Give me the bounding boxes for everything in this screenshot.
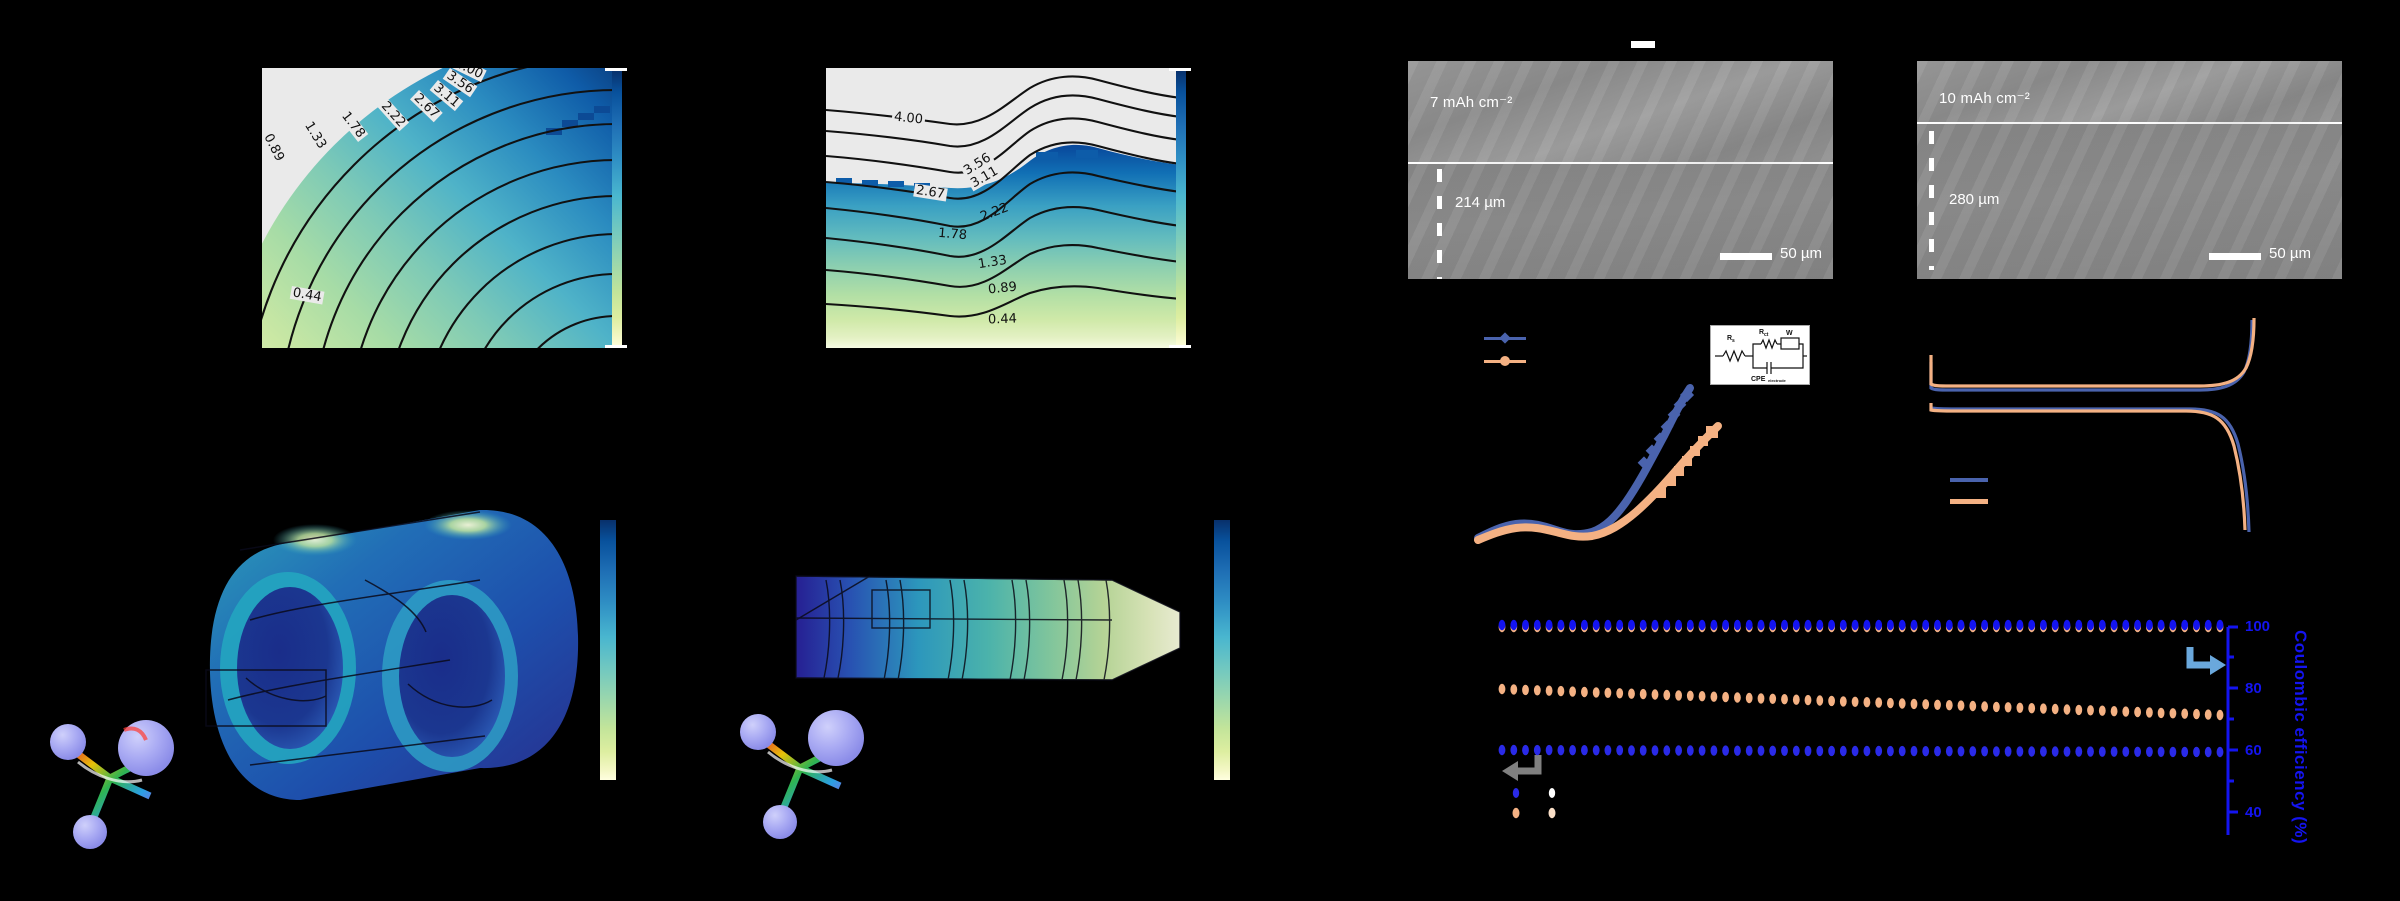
cycling-data-point <box>1816 746 1823 756</box>
colorbar-a-bottom-tick <box>605 345 627 348</box>
sem-thickness-dashes-2 <box>1929 131 1934 279</box>
cycling-data-point <box>1687 691 1694 701</box>
cycling-data-point <box>1911 699 1918 709</box>
colorbar-b-bottom-tick <box>1169 345 1191 348</box>
sem-interface-line-2 <box>1917 122 2342 124</box>
cycling-data-point <box>1875 697 1882 707</box>
cycling-data-point <box>1769 694 1776 704</box>
voltage-legend-blue <box>1950 478 1988 482</box>
sem-scale-bar-2 <box>2209 253 2261 260</box>
cycling-data-point <box>1722 692 1729 702</box>
molecule-sketch-right <box>740 690 910 850</box>
cycling-data-point <box>1652 620 1659 630</box>
cycling-data-point <box>2028 746 2035 756</box>
cycling-data-point <box>1828 620 1835 630</box>
top-marker <box>1631 41 1655 48</box>
cycling-data-point <box>1781 694 1788 704</box>
contour-label-b-3: 1.78 <box>935 227 969 243</box>
cycling-data-point <box>1816 620 1823 630</box>
cycling-right-axis-label: Coulombic efficiency (%) <box>2290 630 2310 844</box>
cycling-tick-100: 100 <box>2245 618 2270 635</box>
cycling-data-point <box>1958 620 1965 630</box>
cycling-data-point <box>1663 745 1670 755</box>
contour-plot-a: 0.89 1.33 1.78 2.22 2.67 3.11 3.56 4.00 … <box>262 68 617 348</box>
cycling-data-point <box>2017 703 2024 713</box>
cycling-data-point <box>1946 620 1953 630</box>
cycling-data-point <box>2052 704 2059 714</box>
cycling-data-point <box>1769 620 1776 630</box>
colorbar-a-top-tick <box>605 68 627 71</box>
cycling-data-point <box>1722 620 1729 630</box>
cycling-data-point <box>1628 620 1635 630</box>
cycling-data-point <box>1581 620 1588 630</box>
cycling-data-point <box>1899 746 1906 756</box>
cycling-data-point <box>1758 620 1765 630</box>
cycling-data-point <box>1569 745 1576 755</box>
cycling-data-point <box>1510 684 1517 694</box>
cycling-data-point <box>2005 746 2012 756</box>
cycling-data-point <box>2099 706 2106 716</box>
svg-text:s: s <box>1732 338 1735 344</box>
cycling-data-point <box>1522 745 1529 755</box>
cycling-data-point <box>1828 746 1835 756</box>
cycling-data-point <box>2134 707 2141 717</box>
cycling-tick-60: 60 <box>2245 742 2262 759</box>
cycling-data-point <box>1734 746 1741 756</box>
cycling-data-point <box>2087 705 2094 715</box>
cycling-data-point <box>1546 620 1553 630</box>
cycling-data-point <box>1746 746 1753 756</box>
cycling-data-point <box>1510 745 1517 755</box>
cycling-data-point <box>1899 620 1906 630</box>
cycling-data-point <box>1793 620 1800 630</box>
cycling-data-point <box>2005 702 2012 712</box>
cycling-data-point <box>1887 746 1894 756</box>
cycling-data-point <box>1781 620 1788 630</box>
cycling-data-point <box>2075 705 2082 715</box>
cycling-data-point <box>1981 620 1988 630</box>
cycling-data-point <box>1581 687 1588 697</box>
render-cylindrical-cell <box>150 500 620 860</box>
cycling-data-point <box>2122 747 2129 757</box>
cycling-data-point <box>2005 620 2012 630</box>
cycling-data-point <box>1569 686 1576 696</box>
cycling-data-point <box>1652 745 1659 755</box>
cycling-data-point <box>1534 620 1541 630</box>
molecule-sketch-left <box>50 700 220 860</box>
cycling-data-point <box>1864 697 1871 707</box>
cycling-data-point <box>1840 696 1847 706</box>
cycling-data-point <box>1922 620 1929 630</box>
cycling-data-point <box>1946 700 1953 710</box>
cycling-data-point <box>1534 745 1541 755</box>
cycling-data-point <box>2217 620 2224 630</box>
cycling-data-point <box>2134 620 2141 630</box>
cycling-tick-80: 80 <box>2245 680 2262 697</box>
cycling-data-point <box>1663 690 1670 700</box>
cycling-data-point <box>1981 746 1988 756</box>
nyquist-plot <box>1460 310 1890 570</box>
cycling-data-point <box>1769 746 1776 756</box>
cycling-data-point <box>1922 746 1929 756</box>
cycling-data-point <box>1510 620 1517 630</box>
sem-image-10mah: 10 mAh cm⁻² 280 µm 50 µm <box>1917 61 2342 279</box>
cycling-data-point <box>1616 745 1623 755</box>
cycling-data-point <box>1969 746 1976 756</box>
cycling-data-point <box>2111 620 2118 630</box>
cycling-data-point <box>1687 745 1694 755</box>
cycling-data-point <box>2205 709 2212 719</box>
cycling-data-point <box>1699 745 1706 755</box>
cycling-data-point <box>1640 689 1647 699</box>
cycling-data-point <box>1663 620 1670 630</box>
cycling-data-point <box>1969 701 1976 711</box>
cycling-data-point <box>1628 689 1635 699</box>
cycling-data-point <box>2099 747 2106 757</box>
cycling-data-point <box>2217 747 2224 757</box>
eis-legend-orange-marker <box>1498 354 1514 370</box>
cycling-data-point <box>2158 620 2165 630</box>
circuit-w-label: W <box>1786 330 1793 337</box>
cycling-data-point <box>1722 745 1729 755</box>
contour-panel-b: 4.00 3.56 3.11 2.67 2.22 1.78 1.33 0.89 … <box>826 68 1181 348</box>
cycling-data-point <box>2111 747 2118 757</box>
cycling-data-point <box>1593 745 1600 755</box>
cycling-data-point <box>2146 707 2153 717</box>
sem-image-7mah: 7 mAh cm⁻² 214 µm 50 µm <box>1408 61 1833 279</box>
cycling-data-point <box>1993 746 2000 756</box>
svg-text:electrode: electrode <box>1768 378 1787 383</box>
circuit-cpe-label: CPE <box>1751 376 1766 383</box>
cycling-data-point <box>1805 746 1812 756</box>
cycling-data-point <box>1593 620 1600 630</box>
cycling-data-point <box>1934 620 1941 630</box>
cycling-data-point <box>1899 698 1906 708</box>
cycling-data-point <box>1605 620 1612 630</box>
cycling-data-point <box>2217 710 2224 720</box>
sem-thickness-label: 214 µm <box>1455 194 1505 211</box>
cycling-data-point <box>2146 747 2153 757</box>
cycling-data-point <box>1746 693 1753 703</box>
cycling-data-point <box>1711 620 1718 630</box>
cycling-data-point <box>1793 746 1800 756</box>
cycling-data-point <box>2122 620 2129 630</box>
cycling-data-point <box>1828 696 1835 706</box>
cycling-data-point <box>1746 620 1753 630</box>
cycling-data-point <box>2017 746 2024 756</box>
colorbar-panel-c <box>600 520 616 780</box>
cycling-data-point <box>2158 747 2165 757</box>
cycling-data-point <box>2099 620 2106 630</box>
cycling-data-point <box>1805 620 1812 630</box>
cycling-performance-plot <box>1490 605 2290 875</box>
cycling-data-point <box>1993 620 2000 630</box>
cycling-data-point <box>2181 747 2188 757</box>
cycling-data-point <box>1969 620 1976 630</box>
cycling-data-point <box>2075 620 2082 630</box>
cycling-data-point <box>1734 620 1741 630</box>
cycling-data-point <box>1852 620 1859 630</box>
cycling-data-point <box>2040 746 2047 756</box>
cycling-data-point <box>1605 745 1612 755</box>
sem-scale-label: 50 µm <box>1780 245 1822 262</box>
sem-loading-label-2: 10 mAh cm⁻² <box>1939 89 2030 107</box>
cycling-data-point <box>1640 745 1647 755</box>
cycling-data-point <box>1699 691 1706 701</box>
cycling-data-point <box>2193 747 2200 757</box>
cycling-data-point <box>2205 747 2212 757</box>
cycling-data-point <box>2052 620 2059 630</box>
cycling-data-point <box>1840 620 1847 630</box>
cycling-data-point <box>1499 684 1506 694</box>
cycling-data-point <box>1875 746 1882 756</box>
cycling-data-point <box>2205 620 2212 630</box>
cycling-data-point <box>1875 620 1882 630</box>
cycling-data-point <box>1499 620 1506 630</box>
cycling-data-point <box>2075 746 2082 756</box>
voltage-legend-orange <box>1950 499 1988 504</box>
cycling-data-point <box>1616 688 1623 698</box>
contour-label-b-0: 0.44 <box>986 312 1019 326</box>
cycling-data-point <box>1922 699 1929 709</box>
cycling-data-point <box>2040 620 2047 630</box>
cycling-tick-40: 40 <box>2245 804 2262 821</box>
cycling-data-point <box>1675 690 1682 700</box>
cycling-data-point <box>2087 620 2094 630</box>
cycling-data-point <box>2028 703 2035 713</box>
cycling-data-point <box>2181 709 2188 719</box>
cycling-data-point <box>1864 620 1871 630</box>
cycling-data-point <box>1946 746 1953 756</box>
cycling-data-point <box>1558 620 1565 630</box>
cycling-data-point <box>1734 692 1741 702</box>
cycling-data-point <box>2170 620 2177 630</box>
cycling-data-point <box>1887 620 1894 630</box>
colorbar-b-top-tick <box>1169 68 1191 71</box>
contour-panel-a: 0.89 1.33 1.78 2.22 2.67 3.11 3.56 4.00 … <box>262 68 617 348</box>
cycling-data-point <box>1499 745 1506 755</box>
cycling-data-point <box>2146 620 2153 630</box>
equivalent-circuit-inset: R s R ct W CPE electrode <box>1710 325 1810 385</box>
cycling-data-point <box>2052 746 2059 756</box>
cycling-data-point <box>1652 689 1659 699</box>
cycling-data-point <box>2087 746 2094 756</box>
cycling-data-point <box>1711 692 1718 702</box>
contour-label-b-1: 0.89 <box>985 280 1019 296</box>
cycling-data-point <box>2193 709 2200 719</box>
sem-scale-label-2: 50 µm <box>2269 245 2311 262</box>
cycling-data-point <box>1911 746 1918 756</box>
cycling-data-point <box>2122 706 2129 716</box>
sem-thickness-label-2: 280 µm <box>1949 191 1999 208</box>
cycling-data-point <box>1558 745 1565 755</box>
cycling-data-point <box>1522 620 1529 630</box>
cycling-data-point <box>1958 746 1965 756</box>
cycling-data-point <box>2064 704 2071 714</box>
cycling-data-point <box>2170 708 2177 718</box>
contour-plot-b: 4.00 3.56 3.11 2.67 2.22 1.78 1.33 0.89 … <box>826 68 1181 348</box>
cycling-data-point <box>1628 745 1635 755</box>
cycling-data-point <box>1593 687 1600 697</box>
cycling-data-point <box>1816 695 1823 705</box>
cycling-data-point <box>1958 700 1965 710</box>
cycling-data-point <box>2040 703 2047 713</box>
svg-text:ct: ct <box>1764 332 1769 338</box>
sem-loading-label: 7 mAh cm⁻² <box>1430 93 1512 111</box>
colorbar-panel-b <box>1176 70 1186 348</box>
sem-scale-bar <box>1720 253 1772 260</box>
cycling-data-point <box>1546 745 1553 755</box>
colorbar-panel-d <box>1214 520 1230 780</box>
sem-interface-line <box>1408 162 1833 164</box>
cycling-data-point <box>1852 746 1859 756</box>
cycling-data-point <box>2181 620 2188 630</box>
cycling-data-point <box>1781 746 1788 756</box>
cycling-data-point <box>1605 688 1612 698</box>
cycling-data-point <box>1864 746 1871 756</box>
cycling-data-point <box>1640 620 1647 630</box>
cycling-data-point <box>1758 746 1765 756</box>
cycling-data-point <box>2158 708 2165 718</box>
cycling-data-point <box>1616 620 1623 630</box>
cycling-data-point <box>1711 745 1718 755</box>
cycling-data-point <box>2134 747 2141 757</box>
cycling-data-point <box>1546 686 1553 696</box>
cycling-data-point <box>1911 620 1918 630</box>
sem-thickness-dashes <box>1437 169 1442 279</box>
contour-label-b-8: 4.00 <box>891 110 925 126</box>
cycling-data-point <box>1534 685 1541 695</box>
cycling-data-point <box>1934 746 1941 756</box>
cycling-data-point <box>1581 745 1588 755</box>
cycling-data-point <box>1840 746 1847 756</box>
cycling-data-point <box>2193 620 2200 630</box>
cycling-data-point <box>2064 620 2071 630</box>
cycling-data-point <box>1758 693 1765 703</box>
cycling-data-point <box>1805 695 1812 705</box>
cycling-data-point <box>1522 685 1529 695</box>
cycling-data-point <box>1699 620 1706 630</box>
cycling-data-point <box>2111 706 2118 716</box>
colorbar-panel-a <box>612 70 622 348</box>
cycling-data-point <box>1675 745 1682 755</box>
cycling-data-point <box>1675 620 1682 630</box>
eis-legend-blue-marker <box>1498 331 1514 347</box>
cycling-data-point <box>1934 700 1941 710</box>
cycling-data-point <box>1852 697 1859 707</box>
voltage-profile-plot <box>1900 310 2330 570</box>
cycling-data-point <box>1993 702 2000 712</box>
cycling-data-point <box>1887 698 1894 708</box>
cycling-data-point <box>2028 620 2035 630</box>
cycling-data-point <box>2064 746 2071 756</box>
cycling-data-point <box>1981 701 1988 711</box>
cycling-data-point <box>1558 686 1565 696</box>
cycling-data-point <box>2017 620 2024 630</box>
cycling-data-point <box>1793 695 1800 705</box>
cycling-data-point <box>2170 747 2177 757</box>
cycling-data-point <box>1569 620 1576 630</box>
cycling-data-point <box>1687 620 1694 630</box>
